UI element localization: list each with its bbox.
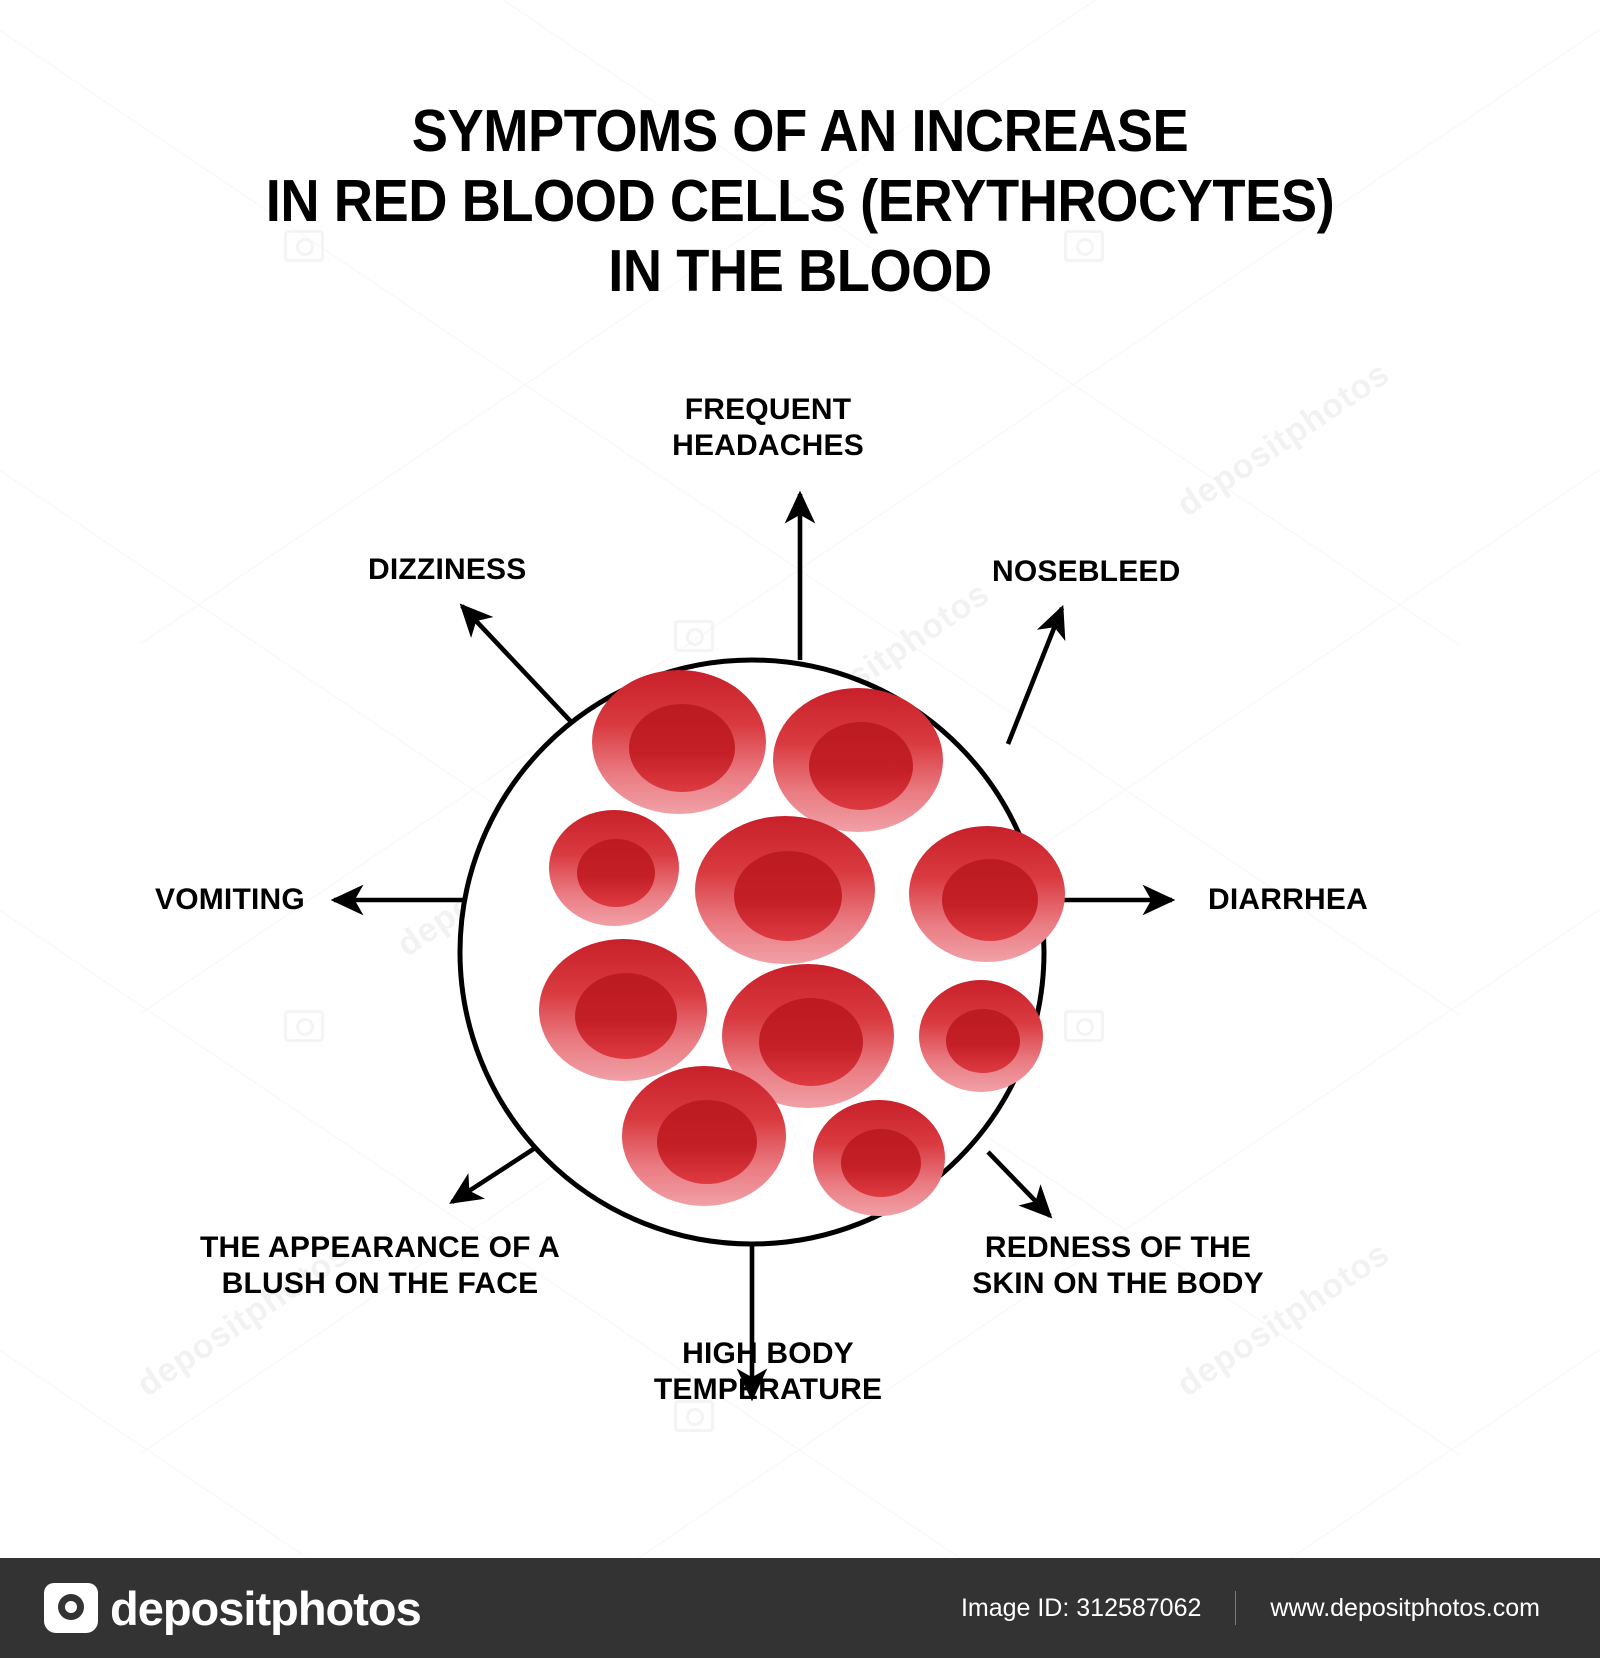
- image-id-text: Image ID: 312587062: [961, 1594, 1201, 1623]
- erythrocyte: [813, 1100, 945, 1216]
- footer-meta: Image ID: 312587062 www.depositphotos.co…: [961, 1591, 1540, 1625]
- erythrocyte: [919, 980, 1043, 1092]
- symptom-label-nosebleed: NOSEBLEED: [992, 554, 1181, 590]
- symptom-label-vomiting: VOMITING: [155, 882, 305, 918]
- symptom-label-diarrhea: DIARRHEA: [1208, 882, 1368, 918]
- camera-icon: [44, 1583, 98, 1633]
- footer-logo: depositphotos: [44, 1581, 421, 1636]
- arrow-skin-redness: [988, 1152, 1050, 1216]
- erythrocyte: [539, 939, 707, 1081]
- erythrocyte: [773, 688, 943, 832]
- erythrocyte-diagram: FREQUENT HEADACHES DIZZINESS NOSEBLEED V…: [0, 0, 1600, 1500]
- erythrocyte: [909, 826, 1065, 962]
- depositphotos-footer-bar: depositphotos Image ID: 312587062 www.de…: [0, 1558, 1600, 1658]
- erythrocyte: [549, 810, 679, 926]
- footer-wordmark: depositphotos: [110, 1581, 421, 1636]
- symptom-label-dizziness: DIZZINESS: [368, 552, 526, 588]
- infographic-page: depositphotos depositphotos depositphoto…: [0, 0, 1600, 1658]
- erythrocyte: [695, 816, 875, 964]
- footer-divider: [1235, 1591, 1236, 1625]
- symptom-label-high-temperature: HIGH BODY TEMPERATURE: [654, 1336, 882, 1408]
- erythrocyte: [592, 670, 766, 814]
- arrow-nosebleed: [1008, 608, 1062, 744]
- website-link[interactable]: www.depositphotos.com: [1270, 1594, 1540, 1623]
- symptom-label-blush-on-face: THE APPEARANCE OF A BLUSH ON THE FACE: [200, 1230, 560, 1302]
- erythrocyte: [622, 1066, 786, 1206]
- symptom-label-frequent-headaches: FREQUENT HEADACHES: [672, 392, 864, 464]
- symptom-label-skin-redness: REDNESS OF THE SKIN ON THE BODY: [972, 1230, 1264, 1302]
